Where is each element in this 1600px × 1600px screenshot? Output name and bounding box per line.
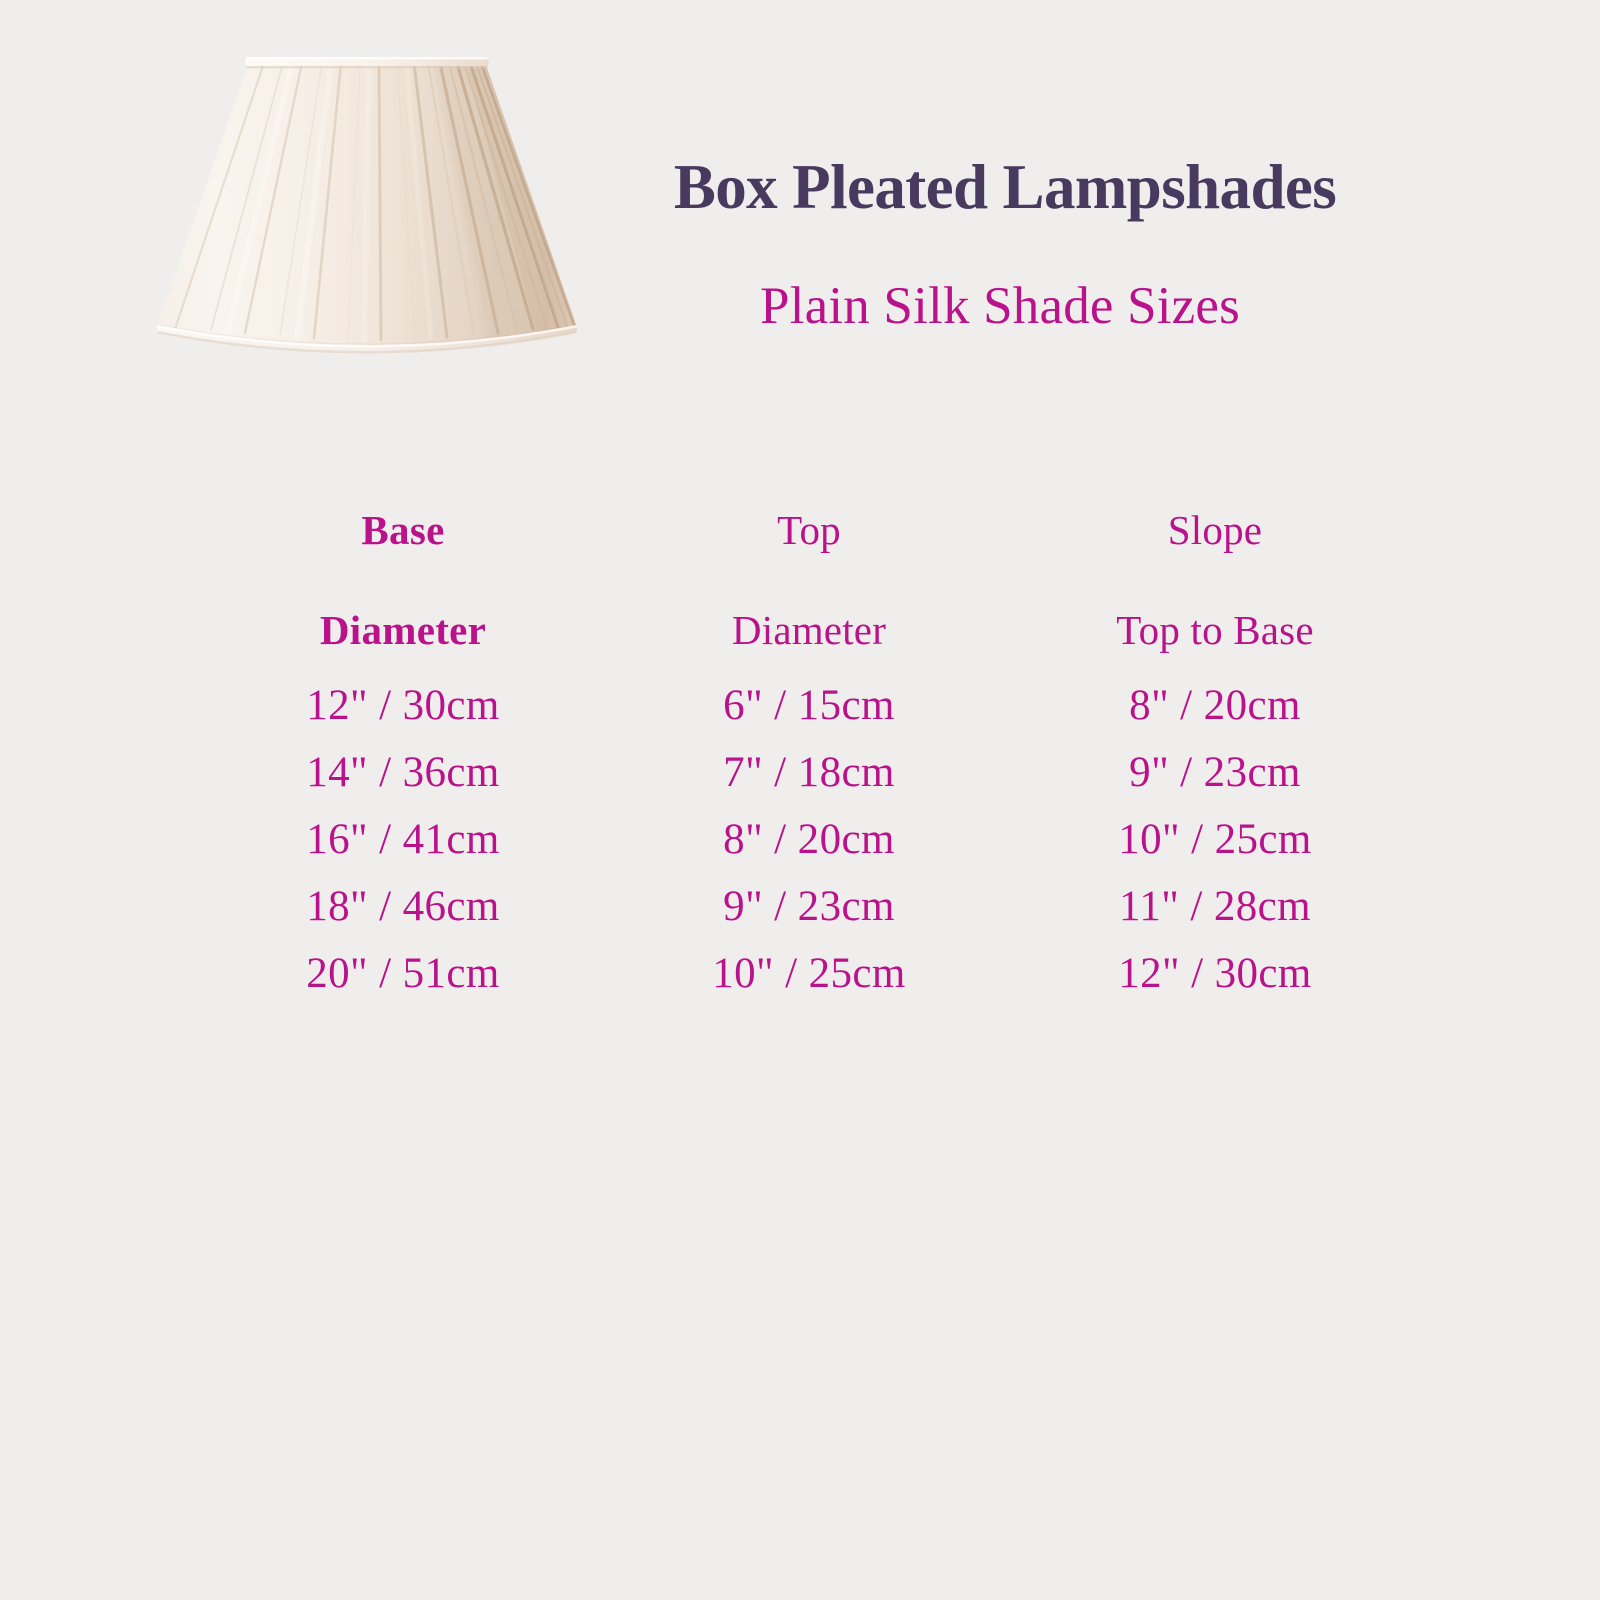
table-cell: 14" / 36cm bbox=[200, 739, 606, 806]
shade-top-rim bbox=[245, 57, 489, 68]
table-cell: 7" / 18cm bbox=[606, 739, 1012, 806]
column-header-line2: Top to Base bbox=[1116, 607, 1313, 653]
table-cell: 6" / 15cm bbox=[606, 672, 1012, 739]
page-subtitle: Plain Silk Shade Sizes bbox=[650, 278, 1350, 334]
size-table: Base Diameter 12" / 30cm 14" / 36cm 16" … bbox=[200, 455, 1420, 1007]
column-header-line1: Slope bbox=[1168, 507, 1262, 553]
table-cell: 18" / 46cm bbox=[200, 873, 606, 940]
lampshade-illustration bbox=[132, 22, 602, 372]
page-title: Box Pleated Lampshades bbox=[560, 154, 1450, 221]
table-cell: 12" / 30cm bbox=[1012, 940, 1418, 1007]
column-top-diameter: Top Diameter 6" / 15cm 7" / 18cm 8" / 20… bbox=[606, 455, 1012, 1007]
table-cell: 9" / 23cm bbox=[1012, 739, 1418, 806]
table-cell: 10" / 25cm bbox=[606, 940, 1012, 1007]
column-base-diameter: Base Diameter 12" / 30cm 14" / 36cm 16" … bbox=[200, 455, 606, 1007]
table-cell: 16" / 41cm bbox=[200, 806, 606, 873]
column-header-line2: Diameter bbox=[320, 607, 486, 653]
page-root: Box Pleated Lampshades Plain Silk Shade … bbox=[0, 0, 1600, 1600]
column-header-line2: Diameter bbox=[732, 607, 886, 653]
column-header-base-diameter: Base Diameter bbox=[200, 455, 606, 655]
table-cell: 12" / 30cm bbox=[200, 672, 606, 739]
column-header-line1: Top bbox=[777, 507, 841, 553]
shade-body bbox=[157, 62, 577, 359]
table-cell: 9" / 23cm bbox=[606, 873, 1012, 940]
column-header-top-diameter: Top Diameter bbox=[606, 455, 1012, 655]
table-cell: 11" / 28cm bbox=[1012, 873, 1418, 940]
table-cell: 8" / 20cm bbox=[606, 806, 1012, 873]
table-cell: 8" / 20cm bbox=[1012, 672, 1418, 739]
column-header-line1: Base bbox=[361, 507, 444, 553]
table-cell: 20" / 51cm bbox=[200, 940, 606, 1007]
column-slope-top-to-base: Slope Top to Base 8" / 20cm 9" / 23cm 10… bbox=[1012, 455, 1418, 1007]
table-cell: 10" / 25cm bbox=[1012, 806, 1418, 873]
column-header-slope: Slope Top to Base bbox=[1012, 455, 1418, 655]
